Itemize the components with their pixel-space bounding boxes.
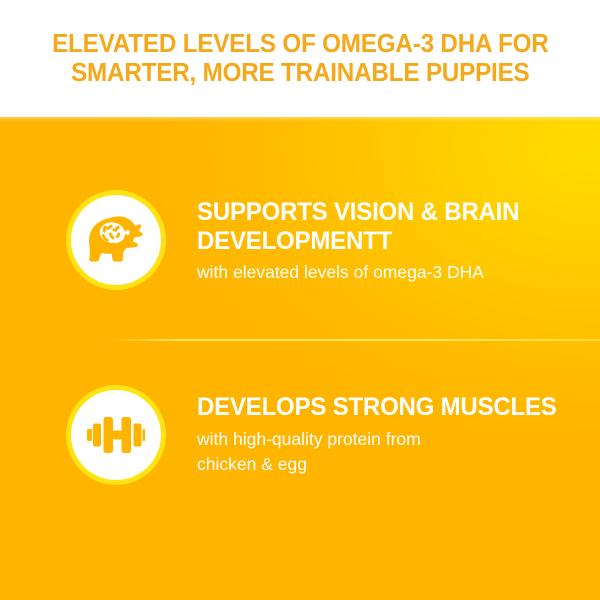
feature-text-block: SUPPORTS VISION & BRAIN DEVELOPMENTT wit… [197, 190, 533, 286]
header-headline-line-2: SMARTER, MORE TRAINABLE PUPPIES [71, 59, 529, 88]
badge-inner-circle [71, 390, 161, 480]
feature-item-strong-muscles: DEVELOPS STRONG MUSCLES with high-qualit… [66, 385, 572, 485]
dumbbell-icon [87, 414, 145, 456]
feature-title: DEVELOPS STRONG MUSCLES [197, 393, 557, 422]
feature-text-block: DEVELOPS STRONG MUSCLES with high-qualit… [197, 385, 572, 478]
feature-icon-badge [66, 190, 166, 290]
feature-title: SUPPORTS VISION & BRAIN DEVELOPMENTT [197, 198, 519, 255]
feature-icon-badge [66, 385, 166, 485]
feature-item-vision-brain: SUPPORTS VISION & BRAIN DEVELOPMENTT wit… [66, 190, 533, 290]
dog-head-brain-icon [87, 215, 145, 265]
feature-subtitle: with elevated levels of omega-3 DHA [197, 260, 533, 286]
feature-subtitle: with high-quality protein from chicken &… [197, 427, 572, 478]
features-panel: SUPPORTS VISION & BRAIN DEVELOPMENTT wit… [0, 117, 600, 600]
promo-poster: ELEVATED LEVELS OF OMEGA-3 DHA FOR SMART… [0, 0, 600, 600]
badge-inner-circle [71, 195, 161, 285]
poster-header: ELEVATED LEVELS OF OMEGA-3 DHA FOR SMART… [0, 0, 600, 117]
header-headline-line-1: ELEVATED LEVELS OF OMEGA-3 DHA FOR [52, 30, 548, 59]
feature-divider [105, 339, 600, 341]
panel-top-sheen [0, 117, 600, 122]
